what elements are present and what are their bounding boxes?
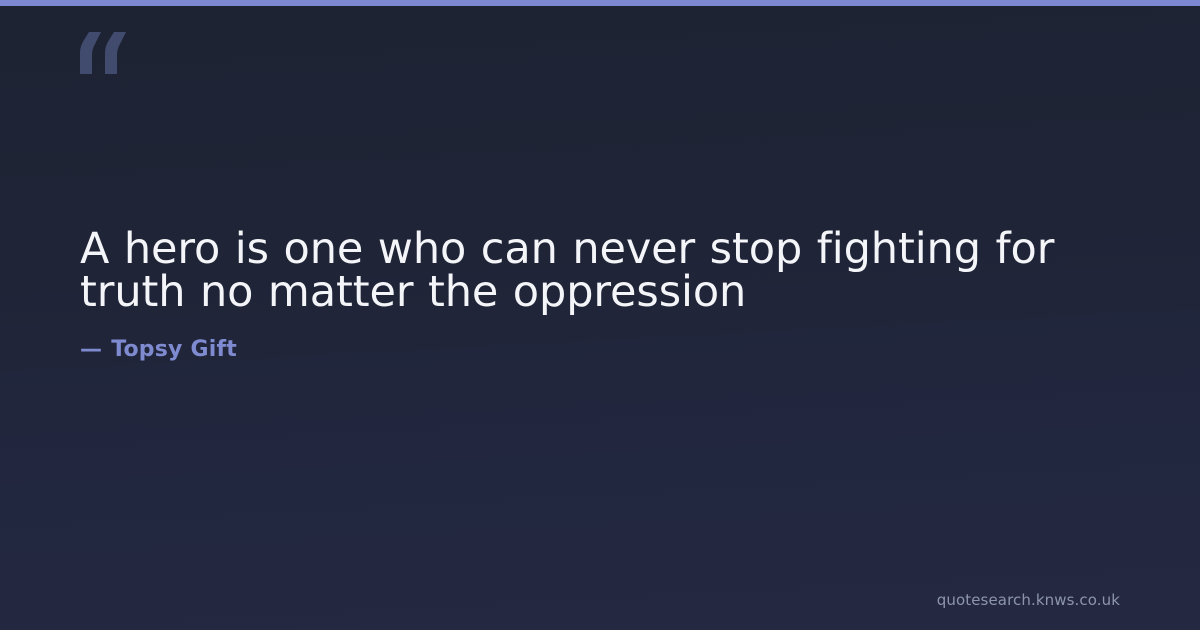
quote-attribution: —Topsy Gift [80,314,1120,362]
quote-card: A hero is one who can never stop fightin… [0,0,1200,630]
site-url-label: quotesearch.knws.co.uk [937,591,1120,609]
top-accent-bar [0,0,1200,6]
quote-content: A hero is one who can never stop fightin… [80,228,1120,362]
attribution-dash: — [80,337,102,362]
attribution-author: Topsy Gift [111,337,237,362]
quote-text: A hero is one who can never stop fightin… [80,228,1092,314]
open-quote-icon [78,30,138,86]
